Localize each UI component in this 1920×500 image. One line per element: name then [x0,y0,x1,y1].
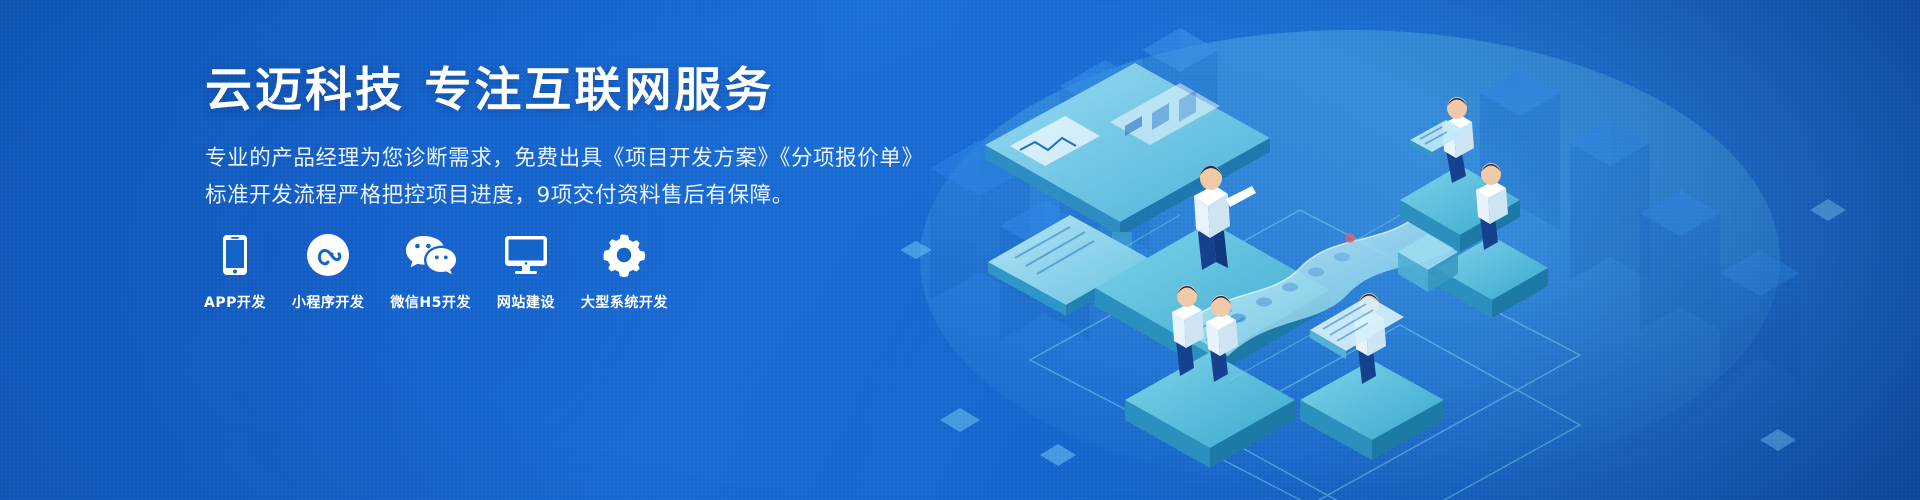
service-label: APP开发 [204,292,266,312]
gear-icon [602,232,646,278]
isometric-tech-illustration [880,0,1920,500]
subtitle-line-2: 标准开发流程严格把控项目进度，9项交付资料售后有保障。 [205,179,905,214]
service-item-app[interactable]: APP开发 [204,232,266,312]
service-item-mini-program[interactable]: 小程序开发 [292,232,365,312]
page-title: 云迈科技 专注互联网服务 [205,64,905,118]
service-label: 大型系统开发 [581,292,668,312]
service-list: APP开发 小程序开发 [204,232,668,312]
banner-copy: 云迈科技 专注互联网服务 专业的产品经理为您诊断需求，免费出具《项目开发方案》《… [205,64,905,214]
wechat-icon [405,232,457,278]
service-item-wechat-h5[interactable]: 微信H5开发 [390,232,470,312]
service-item-website[interactable]: 网站建设 [497,232,555,312]
subtitle-line-1: 专业的产品经理为您诊断需求，免费出具《项目开发方案》《分项报价单》 [205,142,905,177]
monitor-icon [504,232,548,278]
mobile-phone-icon [222,232,248,278]
service-label: 网站建设 [497,292,555,312]
mini-program-icon [306,232,350,278]
hero-banner: 云迈科技 专注互联网服务 专业的产品经理为您诊断需求，免费出具《项目开发方案》《… [0,0,1920,500]
service-label: 微信H5开发 [390,292,470,312]
service-label: 小程序开发 [292,292,365,312]
service-item-large-system[interactable]: 大型系统开发 [581,232,668,312]
